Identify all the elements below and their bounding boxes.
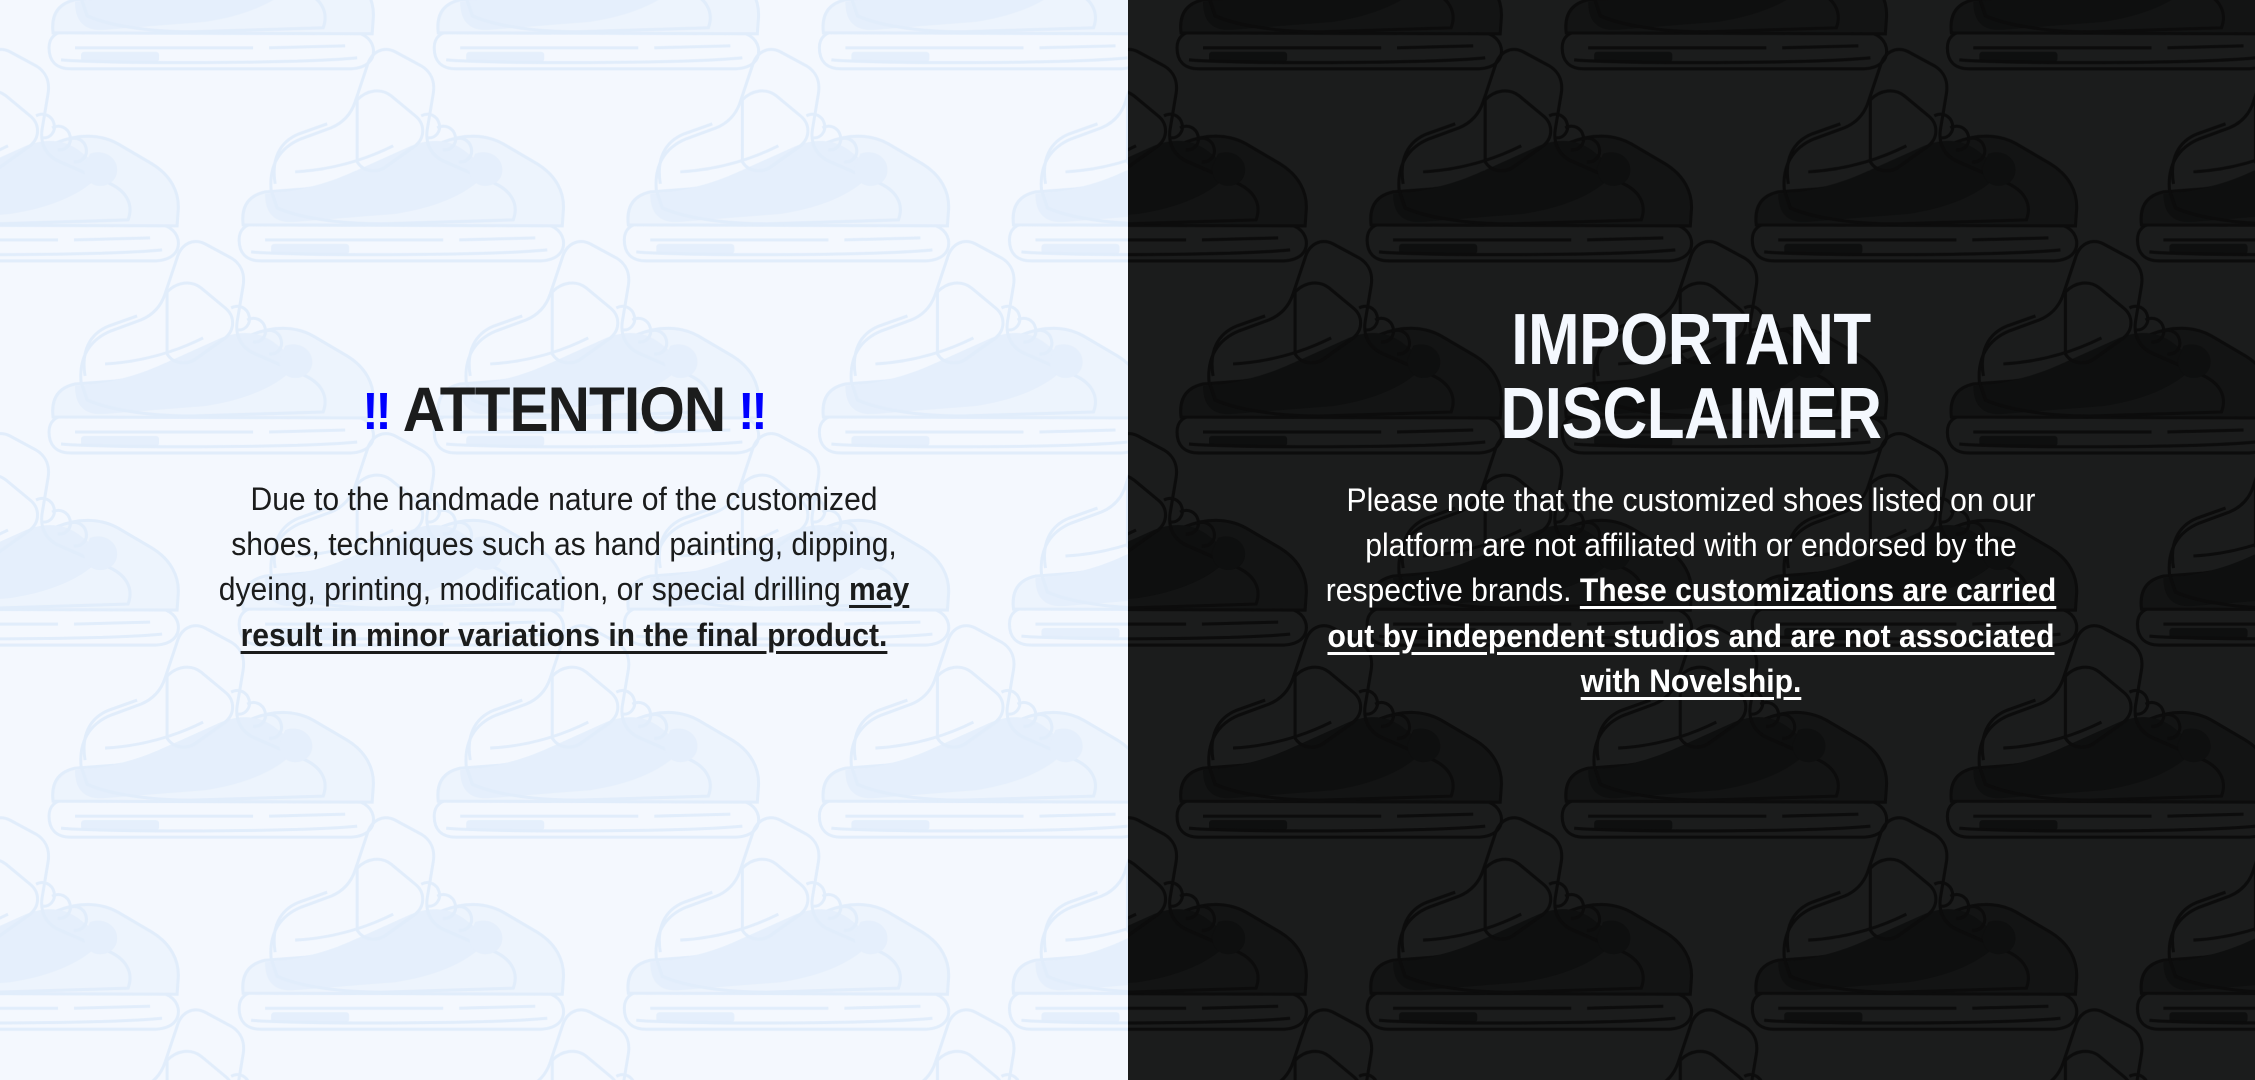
attention-heading: ‼ATTENTION‼: [210, 378, 917, 443]
disclaimer-heading-line-1: IMPORTANT: [1334, 303, 2048, 377]
double-exclamation-icon: ‼: [362, 383, 389, 441]
attention-content: ‼ATTENTION‼ Due to the handmade nature o…: [0, 0, 1128, 1080]
disclaimer-heading: IMPORTANT DISCLAIMER: [1334, 303, 2048, 451]
attention-body-normal: Due to the handmade nature of the custom…: [218, 481, 896, 608]
disclaimer-panel: IMPORTANT DISCLAIMER Please note that th…: [1128, 0, 2255, 1080]
disclaimer-content: IMPORTANT DISCLAIMER Please note that th…: [1128, 0, 2255, 1080]
attention-panel: ‼ATTENTION‼ Due to the handmade nature o…: [0, 0, 1128, 1080]
disclaimer-banner: ‼ATTENTION‼ Due to the handmade nature o…: [0, 0, 2255, 1080]
attention-heading-text: ATTENTION: [389, 375, 738, 445]
attention-body: Due to the handmade nature of the custom…: [207, 477, 921, 659]
double-exclamation-icon-trailing: ‼: [738, 383, 765, 441]
disclaimer-body: Please note that the customized shoes li…: [1301, 478, 2081, 705]
disclaimer-heading-line-2: DISCLAIMER: [1334, 377, 2048, 451]
